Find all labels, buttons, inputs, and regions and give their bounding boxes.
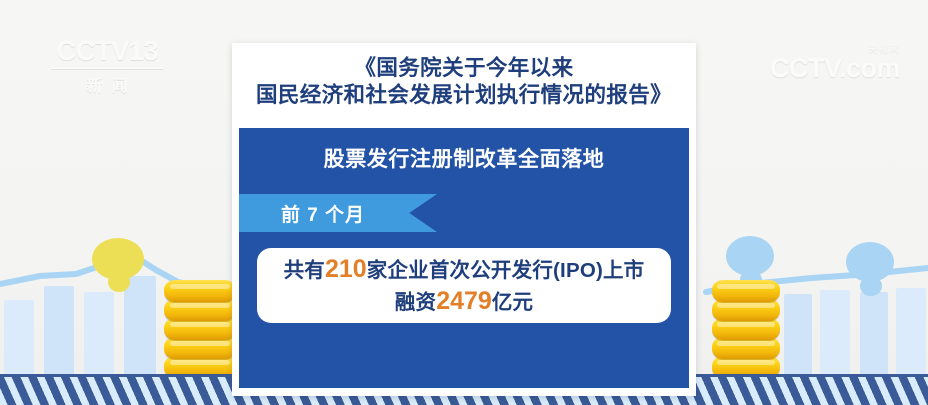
- decor-coin: [712, 280, 780, 302]
- stat-line-1: 共有210家企业首次公开发行(IPO)上市: [284, 254, 645, 286]
- title-line-2: 国民经济和社会发展计划执行情况的报告》: [248, 82, 680, 109]
- decor-bulb-node: [108, 272, 130, 292]
- card-title: 《国务院关于今年以来 国民经济和社会发展计划执行情况的报告》: [232, 43, 696, 115]
- decor-coin: [164, 318, 236, 340]
- period-ribbon: 前 7 个月: [239, 194, 437, 232]
- ribbon-label: 前 7 个月: [239, 194, 407, 232]
- decor-coin-stack-right: [712, 266, 780, 378]
- decor-bulb-node: [860, 276, 882, 296]
- title-line-1: 《国务院关于今年以来: [248, 55, 680, 82]
- card-blue-body: 股票发行注册制改革全面落地 前 7 个月 共有210家企业首次公开发行(IPO)…: [239, 128, 689, 388]
- stat-line-2: 融资2479亿元: [395, 286, 533, 318]
- decor-coin-stack-left: [164, 266, 236, 378]
- stat-line-1-prefix: 共有: [284, 259, 325, 282]
- decor-coin: [712, 318, 780, 340]
- decor-coin: [164, 299, 236, 321]
- decor-coin: [712, 299, 780, 321]
- stat-line-1-suffix: 家企业首次公开发行(IPO)上市: [367, 259, 645, 282]
- news-graphic-stage: 《国务院关于今年以来 国民经济和社会发展计划执行情况的报告》 股票发行注册制改革…: [0, 0, 928, 405]
- info-card: 《国务院关于今年以来 国民经济和社会发展计划执行情况的报告》 股票发行注册制改革…: [232, 43, 696, 396]
- statistic-box: 共有210家企业首次公开发行(IPO)上市 融资2479亿元: [257, 248, 671, 323]
- decor-coin: [712, 337, 780, 359]
- card-headline: 股票发行注册制改革全面落地: [239, 128, 689, 173]
- stat-line-2-prefix: 融资: [395, 291, 436, 314]
- stat-line-1-number: 210: [325, 255, 367, 283]
- decor-coin: [164, 337, 236, 359]
- decor-coin: [164, 280, 236, 302]
- stat-line-2-number: 2479: [436, 287, 492, 315]
- stat-line-2-suffix: 亿元: [492, 291, 533, 314]
